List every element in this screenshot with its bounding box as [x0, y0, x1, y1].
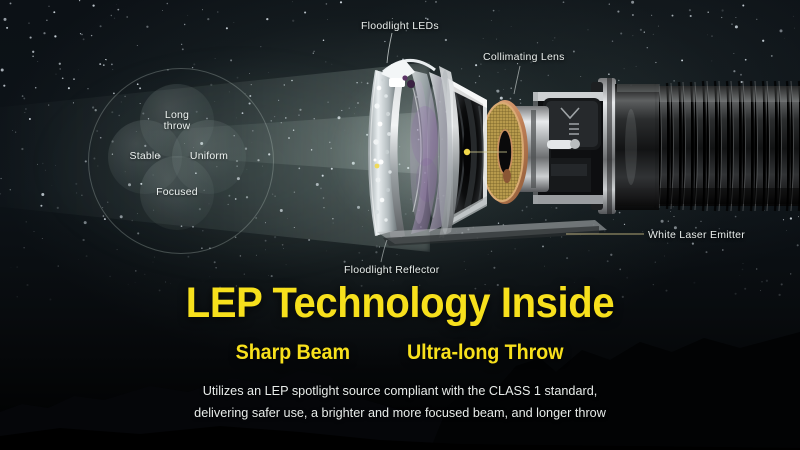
callout-floodlight-reflector: Floodlight Reflector	[344, 264, 439, 276]
description-line-2: delivering safer use, a brighter and mor…	[16, 402, 784, 424]
flashlight-cutaway-illustration	[355, 48, 800, 248]
description-text: Utilizes an LEP spotlight source complia…	[16, 380, 784, 424]
page-title: LEP Technology Inside	[28, 282, 772, 325]
subheading-sharp-beam: Sharp Beam	[236, 341, 350, 365]
subheading-ultra-long-throw: Ultra-long Throw	[407, 341, 563, 365]
marketing-copy-block: LEP Technology Inside Sharp Beam Ultra-l…	[0, 282, 800, 424]
bubble-focused-label: Focused	[156, 187, 198, 198]
bubble-stable-label: Stable	[130, 151, 161, 162]
callout-floodlight-leds: Floodlight LEDs	[361, 20, 439, 32]
head-base-plate	[377, 220, 607, 246]
callout-collimating-lens: Collimating Lens	[483, 51, 565, 63]
attribute-cluster: Long throw Stable Uniform Focused	[88, 68, 274, 254]
bubble-focused: Focused	[140, 156, 214, 230]
feature-subheadings: Sharp Beam Ultra-long Throw	[0, 341, 800, 365]
promo-banner: Long throw Stable Uniform Focused	[0, 0, 800, 450]
description-line-1: Utilizes an LEP spotlight source complia…	[16, 380, 784, 402]
callout-white-laser-emitter: White Laser Emitter	[648, 229, 745, 241]
